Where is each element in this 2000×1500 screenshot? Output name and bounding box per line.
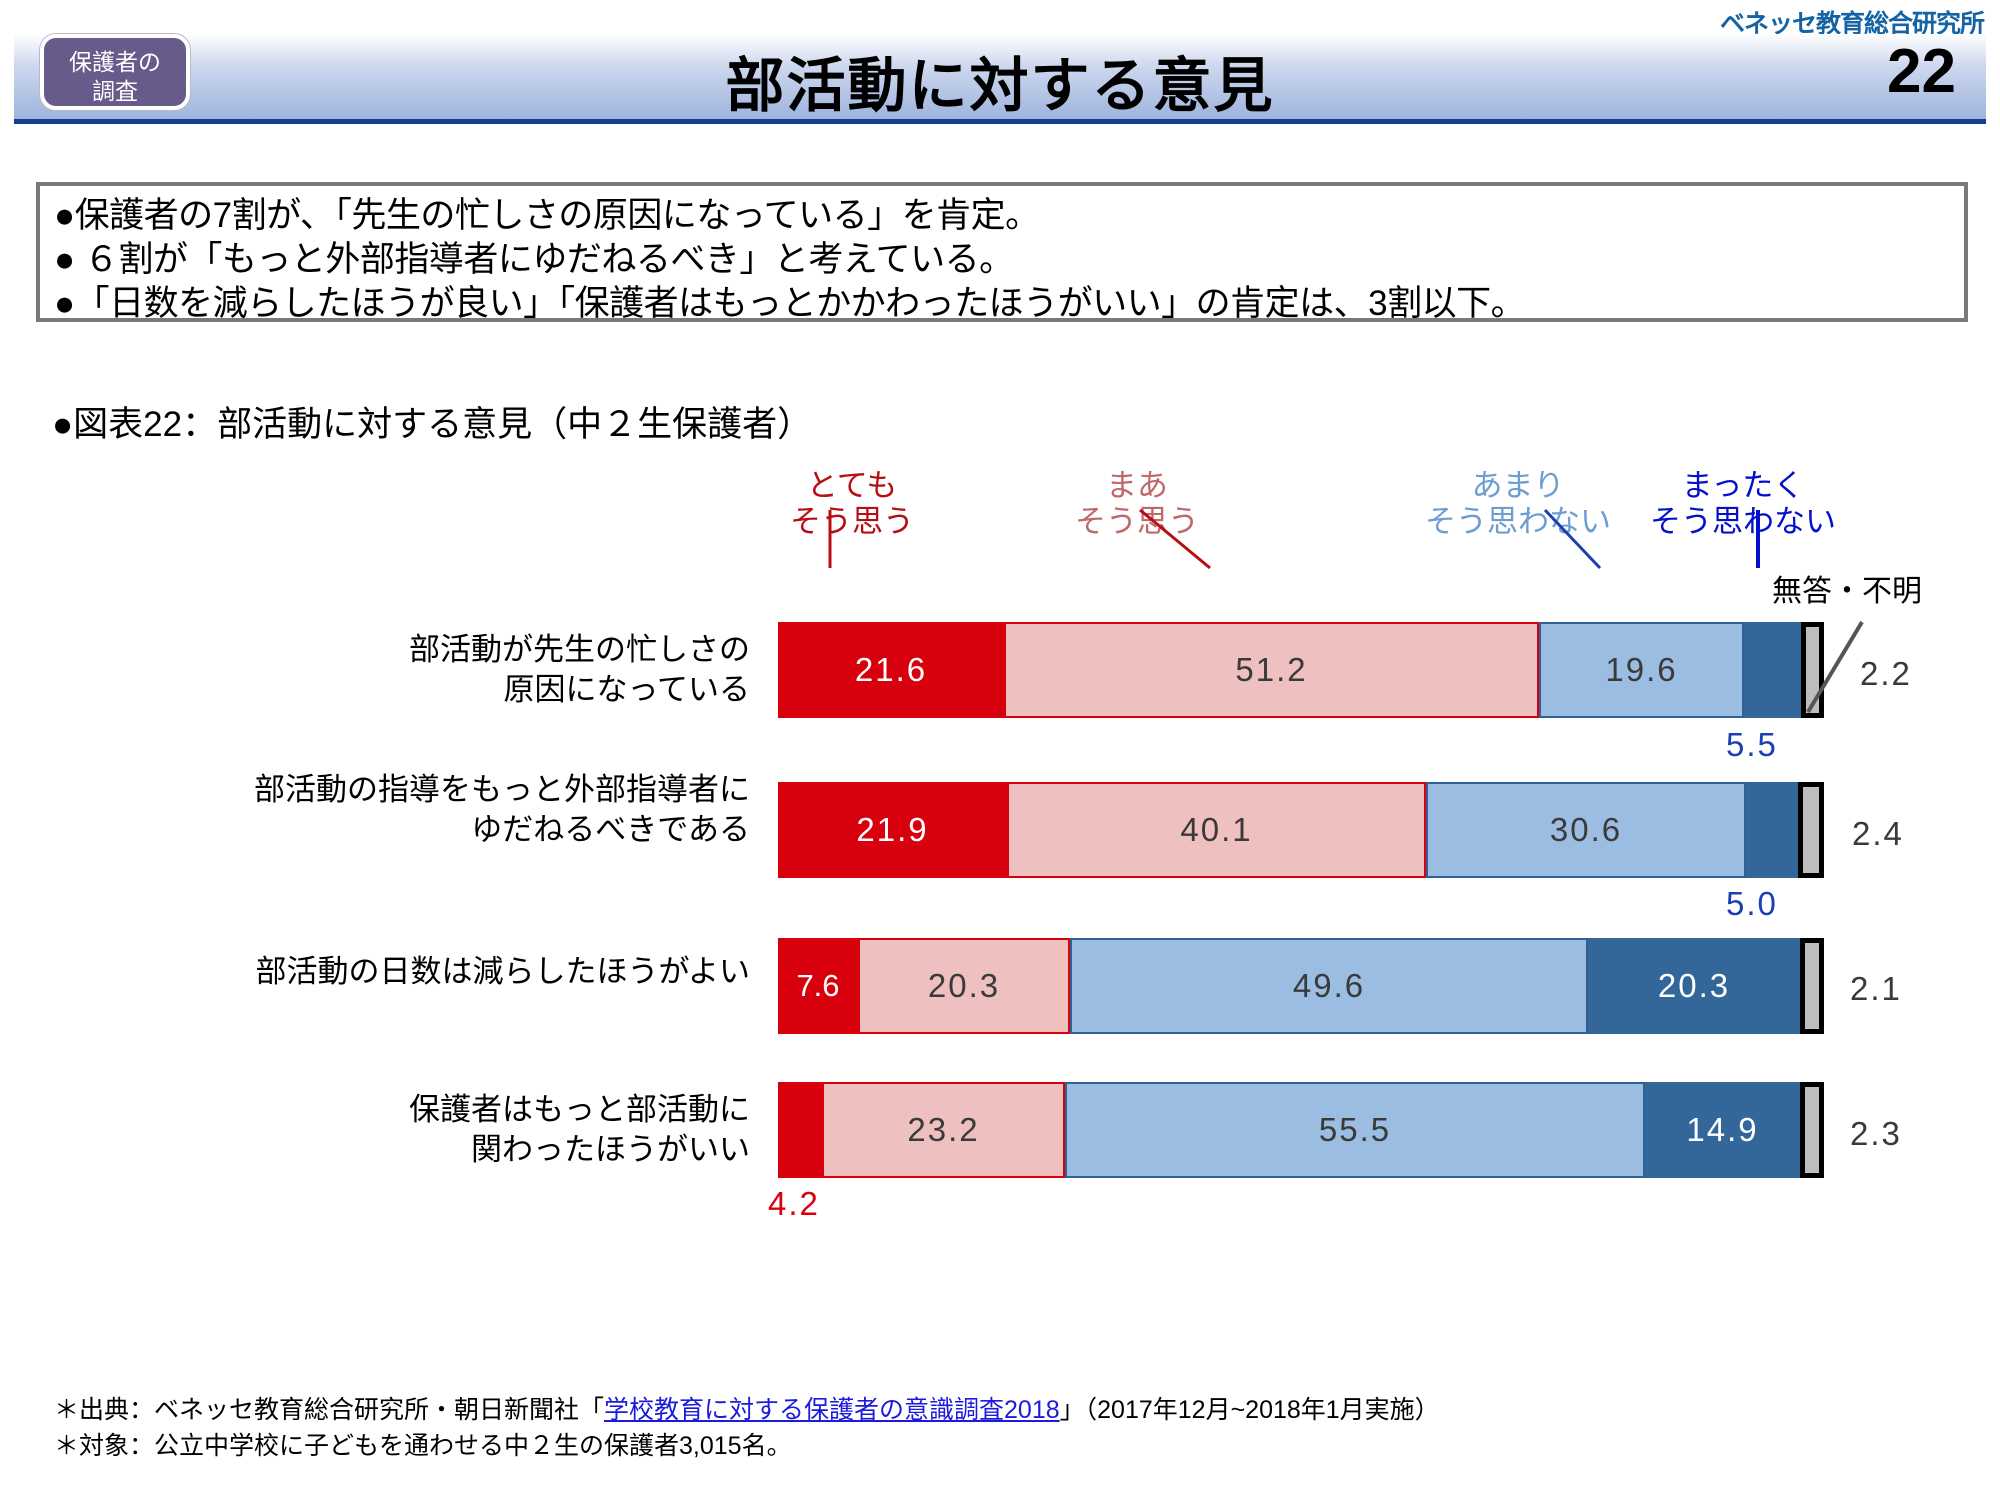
value-very-agree-3: 4.2 bbox=[768, 1185, 820, 1223]
bar-segment-no-answer bbox=[1800, 1082, 1824, 1178]
bar-segment-no-answer bbox=[1798, 782, 1824, 878]
row-label-3-line1: 保護者はもっと部活動に bbox=[300, 1090, 750, 1130]
row-label-0-line2: 原因になっている bbox=[300, 670, 750, 710]
legend-leader-lines bbox=[0, 440, 2000, 570]
row-label-3: 保護者はもっと部活動に 関わったほうがいい bbox=[300, 1090, 750, 1171]
bar-segment-somewhat-agree: 40.1 bbox=[1007, 782, 1426, 878]
bar-segment-not-much: 30.6 bbox=[1426, 782, 1746, 878]
bar-segment-somewhat-agree: 20.3 bbox=[858, 938, 1070, 1034]
row-label-1-line1: 部活動の指導をもっと外部指導者に bbox=[110, 770, 750, 810]
value-no-answer-1: 2.4 bbox=[1852, 815, 1904, 853]
bar-row-1: 21.9 40.1 30.6 bbox=[778, 782, 1824, 878]
bar-segment-not-much: 49.6 bbox=[1070, 938, 1588, 1034]
footer-line-2: ＊対象：公立中学校に子どもを通わせる中２生の保護者3,015名。 bbox=[54, 1428, 1440, 1464]
bar-segment-not-much: 19.6 bbox=[1539, 622, 1744, 718]
footer-line-1-suffix: 」（2017年12月~2018年1月実施） bbox=[1060, 1396, 1440, 1424]
bar-segment-somewhat-agree: 23.2 bbox=[822, 1082, 1065, 1178]
footer-line-1: ＊出典：ベネッセ教育総合研究所・朝日新聞社「学校教育に対する保護者の意識調査20… bbox=[54, 1392, 1440, 1428]
row-label-2: 部活動の日数は減らしたほうがよい bbox=[110, 952, 750, 992]
legend-item-no-answer: 無答・不明 bbox=[1772, 566, 1922, 610]
row-label-0: 部活動が先生の忙しさの 原因になっている bbox=[300, 630, 750, 711]
bar-segment-somewhat-agree: 51.2 bbox=[1004, 622, 1539, 718]
bar-segment-not-at-all: 20.3 bbox=[1588, 938, 1800, 1034]
bar-row-0: 21.6 51.2 19.6 bbox=[778, 622, 1824, 718]
value-no-answer-3: 2.3 bbox=[1850, 1115, 1902, 1153]
bar-row-3: 23.2 55.5 14.9 bbox=[778, 1082, 1824, 1178]
value-no-answer-2: 2.1 bbox=[1850, 970, 1902, 1008]
row-label-0-line1: 部活動が先生の忙しさの bbox=[300, 630, 750, 670]
value-not-at-all-0: 5.5 bbox=[1726, 726, 1778, 764]
bar-segment-not-much: 55.5 bbox=[1065, 1082, 1645, 1178]
row-label-3-line2: 関わったほうがいい bbox=[300, 1130, 750, 1170]
stacked-bar-chart: とても そう思う まあ そう思う あまり そう思わない まったく そう思わない … bbox=[0, 0, 2000, 1500]
bar-segment-not-at-all: 14.9 bbox=[1645, 1082, 1800, 1178]
footer-notes: ＊出典：ベネッセ教育総合研究所・朝日新聞社「学校教育に対する保護者の意識調査20… bbox=[54, 1392, 1440, 1465]
slide-page: ベネッセ教育総合研究所 保護者の 調査 部活動に対する意見 22 ●保護者の7割… bbox=[0, 0, 2000, 1500]
row-label-2-line1: 部活動の日数は減らしたほうがよい bbox=[110, 952, 750, 992]
survey-source-link[interactable]: 学校教育に対する保護者の意識調査2018 bbox=[604, 1396, 1060, 1424]
bar-segment-very-agree: 21.9 bbox=[778, 782, 1007, 878]
bar-segment-no-answer bbox=[1800, 938, 1824, 1034]
bar-segment-not-at-all bbox=[1744, 622, 1801, 718]
value-not-at-all-1: 5.0 bbox=[1726, 885, 1778, 923]
bar-segment-not-at-all bbox=[1746, 782, 1798, 878]
row-label-1-line2: ゆだねるべきである bbox=[110, 810, 750, 850]
value-no-answer-0: 2.2 bbox=[1860, 655, 1912, 693]
bar-row-2: 7.6 20.3 49.6 20.3 bbox=[778, 938, 1824, 1034]
bar-segment-very-agree bbox=[778, 1082, 822, 1178]
row-label-1: 部活動の指導をもっと外部指導者に ゆだねるべきである bbox=[110, 770, 750, 851]
footer-line-1-prefix: ＊出典：ベネッセ教育総合研究所・朝日新聞社「 bbox=[54, 1396, 604, 1424]
bar-segment-very-agree: 7.6 bbox=[778, 938, 858, 1034]
bar-segment-very-agree: 21.6 bbox=[778, 622, 1004, 718]
